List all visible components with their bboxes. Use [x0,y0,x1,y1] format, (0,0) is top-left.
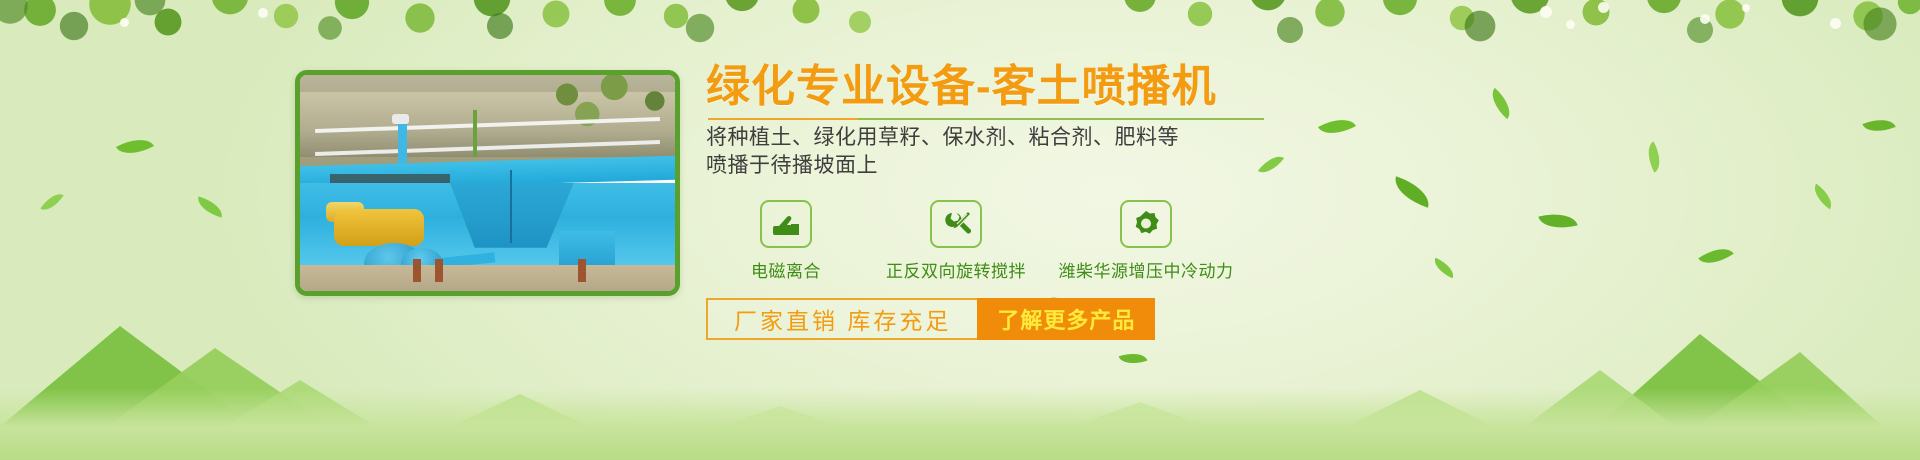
blossom-icon [1700,14,1710,24]
banner-content: 绿化专业设备-客土喷播机 将种植土、绿化用草籽、保水剂、粘合剂、肥料等 喷播于待… [706,62,1486,340]
blossom-icon [258,8,268,18]
subtitle-line-2: 喷播于待播坡面上 [706,152,1486,180]
leaf-icon [195,196,226,217]
gear-ring-icon [1120,200,1172,248]
promo-banner: 绿化专业设备-客土喷播机 将种植土、绿化用草籽、保水剂、粘合剂、肥料等 喷播于待… [0,0,1920,460]
feature-label: 电磁离合 [751,257,821,282]
leaf-icon [1862,113,1895,138]
cta-bar: 厂家直销 库存充足 了解更多产品 [706,298,1155,340]
title-divider [708,118,1264,120]
product-photo [295,70,680,296]
learn-more-button[interactable]: 了解更多产品 [977,298,1155,340]
wrench-screwdriver-icon [930,200,982,248]
clutch-hand-icon [760,200,812,248]
page-title: 绿化专业设备-客土喷播机 [706,62,1486,112]
blossom-icon [1540,6,1552,18]
subtitle-line-1: 将种植土、绿化用草籽、保水剂、粘合剂、肥料等 [706,124,1486,152]
feature-label: 潍柴华源增压中冷动力 [1059,257,1234,282]
leaf-icon [1641,141,1667,172]
blossom-icon [1598,2,1609,13]
feature-item-clutch: 电磁离合 [706,200,866,282]
feature-item-mixing: 正反双向旋转搅拌 [866,200,1046,282]
leaf-icon [116,131,154,162]
blossom-icon [1566,20,1575,29]
grass-decoration [0,388,1920,460]
feature-list: 电磁离合 正反双向旋转搅拌 [706,200,1486,282]
feature-label: 正反双向旋转搅拌 [886,257,1026,282]
leaf-icon [1809,184,1838,210]
blossom-icon [1742,4,1750,12]
blossom-icon [120,18,129,27]
blossom-icon [1830,18,1841,29]
leaf-icon [40,189,63,216]
cta-slogan: 厂家直销 库存充足 [708,300,977,338]
feature-item-power: 潍柴华源增压中冷动力 [1046,200,1246,282]
leaf-icon [1485,88,1517,119]
